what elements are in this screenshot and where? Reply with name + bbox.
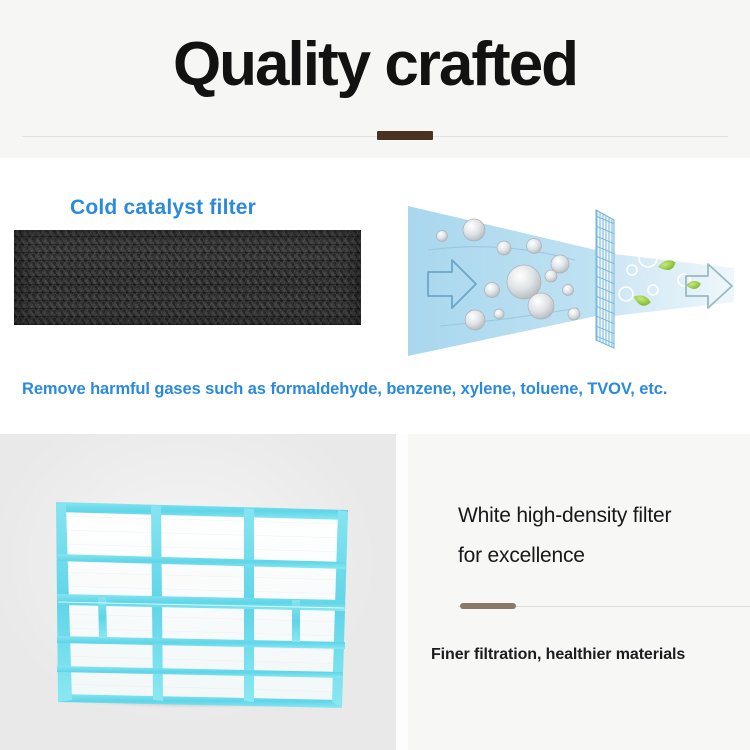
white-filter-heading-line1: White high-density filter: [458, 496, 748, 536]
cold-catalyst-section: Cold catalyst filter: [0, 158, 750, 434]
white-high-density-filter-photo: [52, 496, 352, 708]
white-filter-heading: White high-density filter for excellence: [458, 496, 748, 576]
header-section: Quality crafted: [0, 0, 750, 158]
page-title: Quality crafted: [0, 30, 750, 100]
dirty-airflow-stream: [408, 206, 596, 356]
honeycomb-carbon-filter-swatch: [14, 230, 361, 325]
cold-catalyst-caption: Remove harmful gases such as formaldehyd…: [22, 380, 732, 399]
header-accent-bar: [377, 131, 433, 140]
white-filter-heading-line2: for excellence: [458, 536, 748, 576]
airflow-filtration-diagram: [400, 198, 740, 358]
product-detail-page: Quality crafted Cold catalyst filter: [0, 0, 750, 750]
white-filter-section: White high-density filter for excellence…: [0, 434, 750, 750]
white-filter-text-panel: White high-density filter for excellence…: [408, 434, 750, 750]
cold-catalyst-label: Cold catalyst filter: [70, 196, 256, 220]
white-filter-subtext: Finer filtration, healthier materials: [431, 646, 750, 664]
white-filter-accent-bar: [460, 603, 516, 609]
header-divider: [22, 136, 728, 137]
mesh-screen-icon: [596, 210, 615, 348]
